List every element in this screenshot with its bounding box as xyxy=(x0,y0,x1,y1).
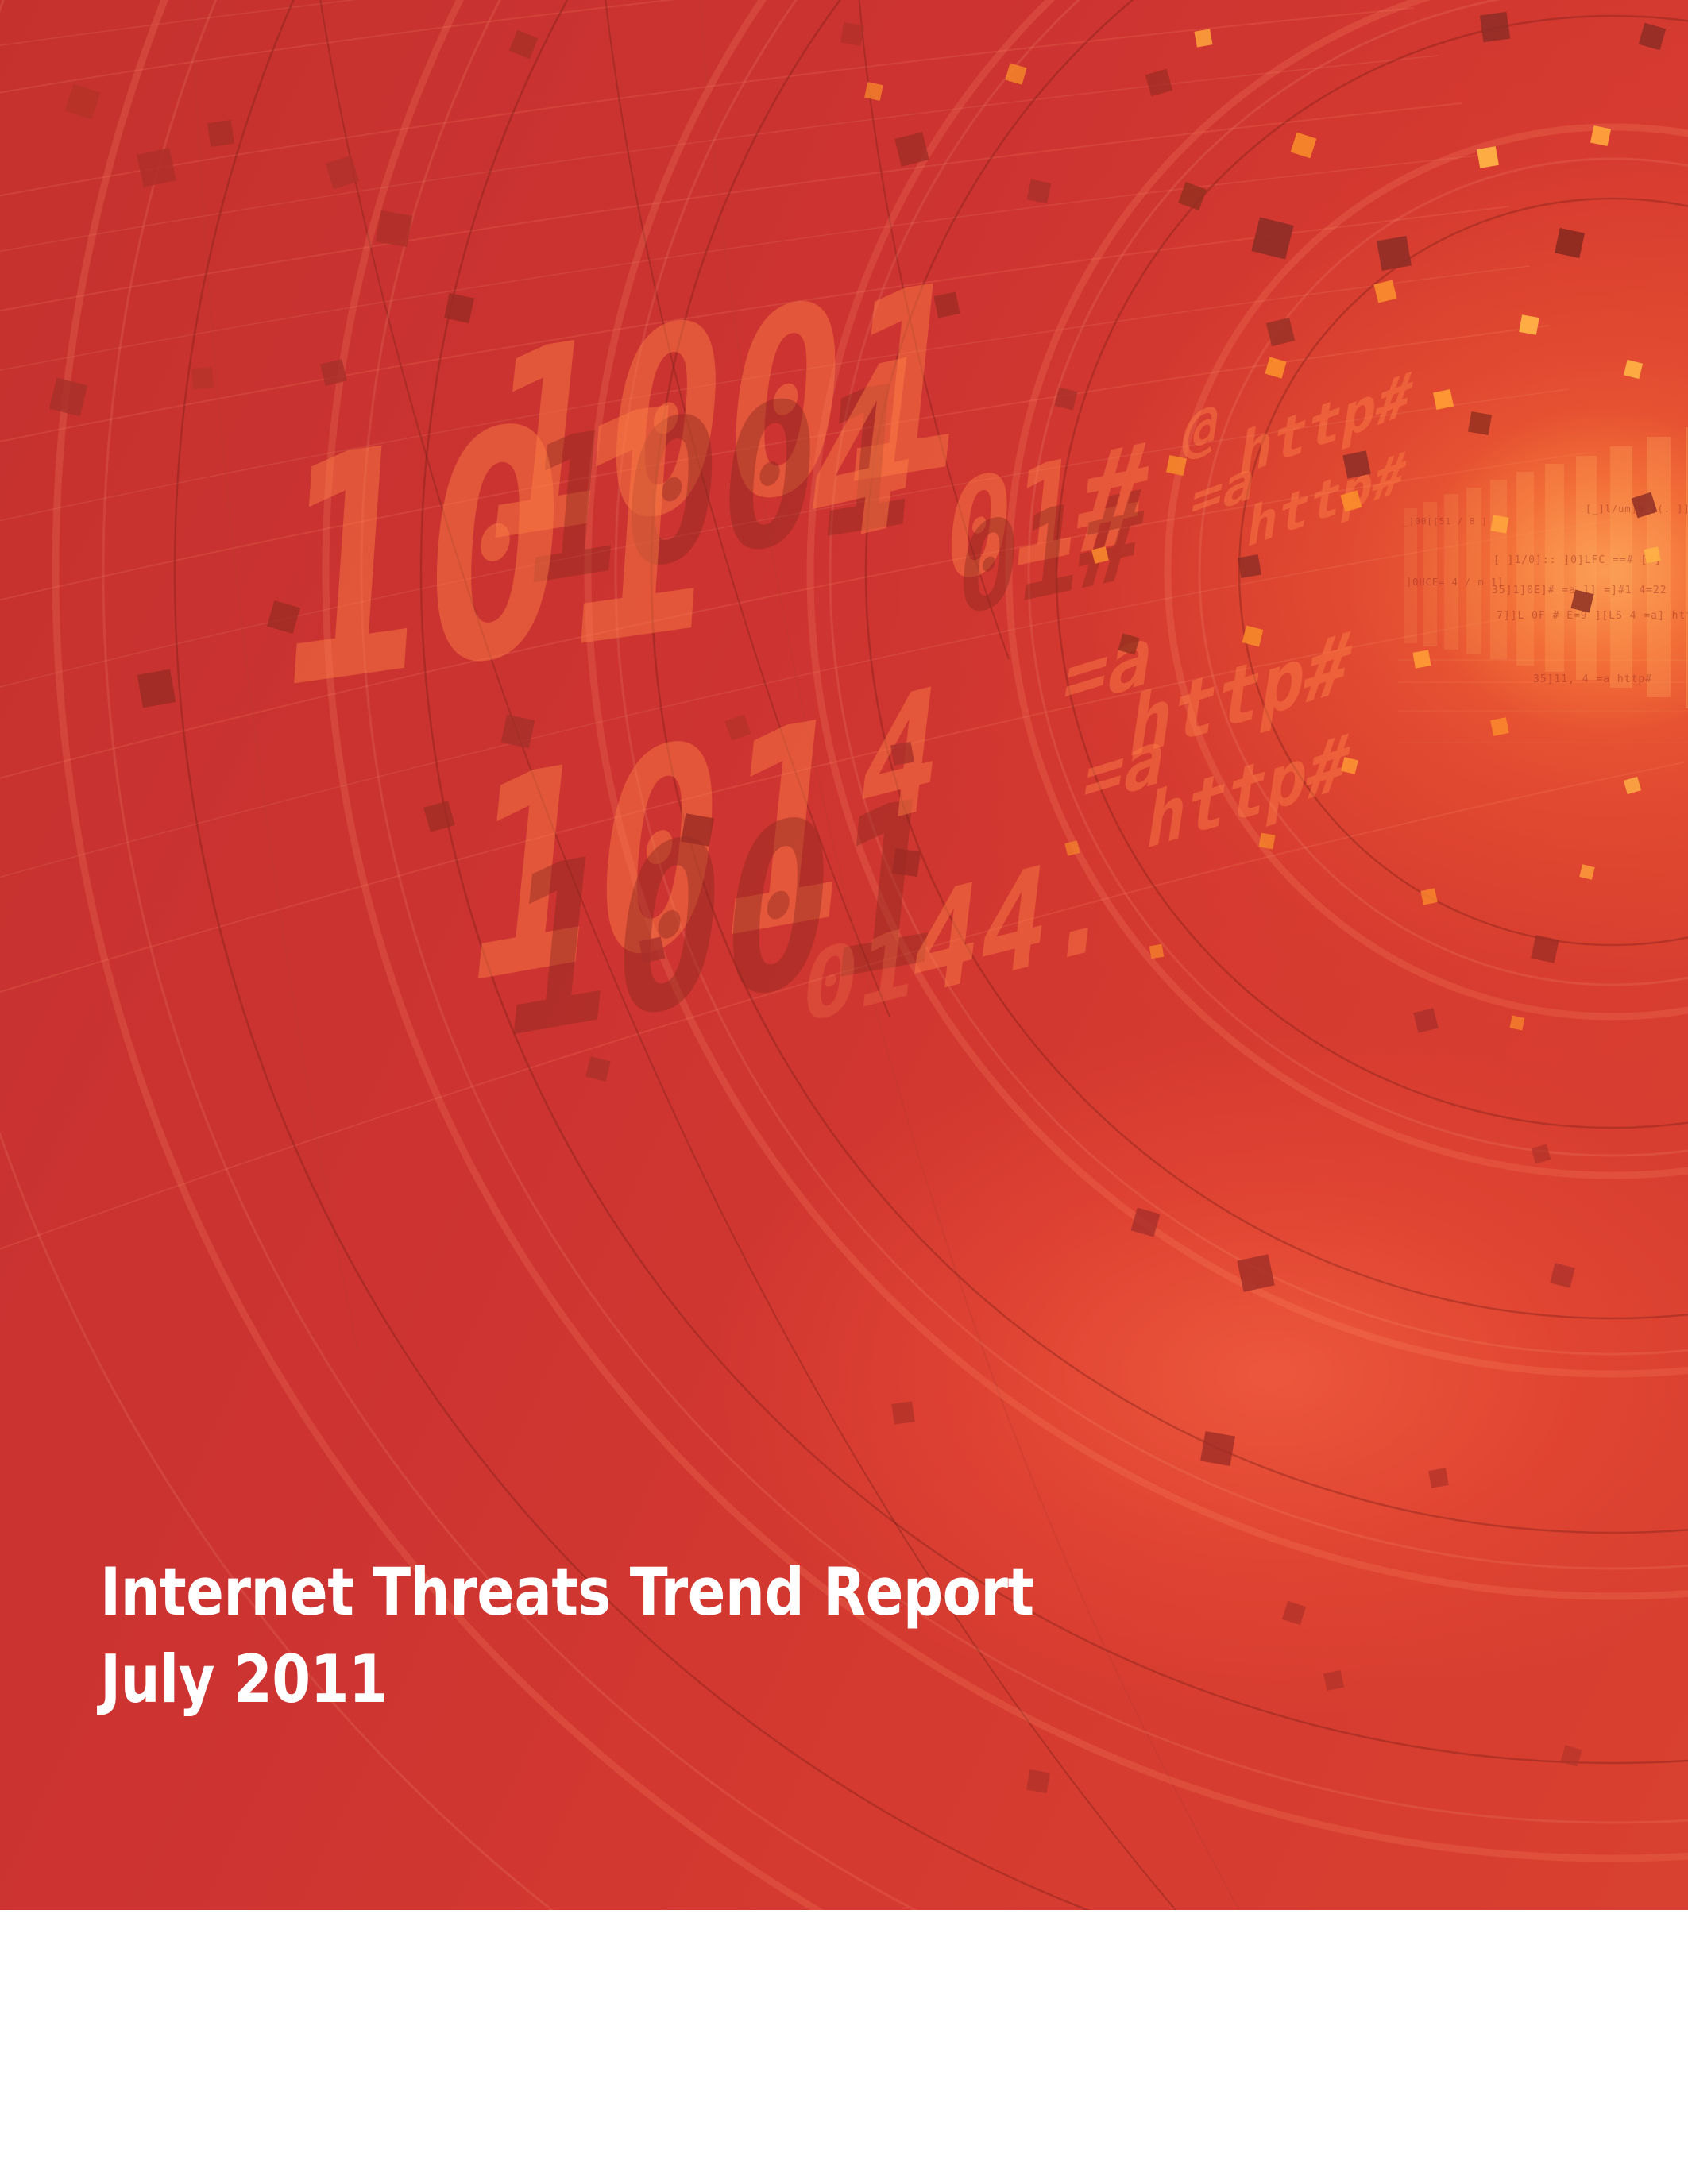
cover-title-block: Internet Threats Trend Report July 2011 xyxy=(100,1549,1094,1723)
page-subtitle-date: July 2011 xyxy=(100,1636,1034,1723)
cover-hero-panel: 1001 1001 4 01# 01# 101 101 1001 4 44. 0… xyxy=(0,0,1688,1910)
data-tunnel-graphic: _]00[[51 / 8 ] ]0UCE= 4 / m 1] [ ]1/0]::… xyxy=(1160,222,1688,921)
cover-footer: com touch R xyxy=(0,1910,1688,2184)
page-title: Internet Threats Trend Report xyxy=(100,1549,1034,1636)
tunnel-corridor-interior: _]00[[51 / 8 ] ]0UCE= 4 / m 1] [ ]1/0]::… xyxy=(1398,421,1688,762)
report-cover-page: 1001 1001 4 01# 01# 101 101 1001 4 44. 0… xyxy=(0,0,1688,2184)
